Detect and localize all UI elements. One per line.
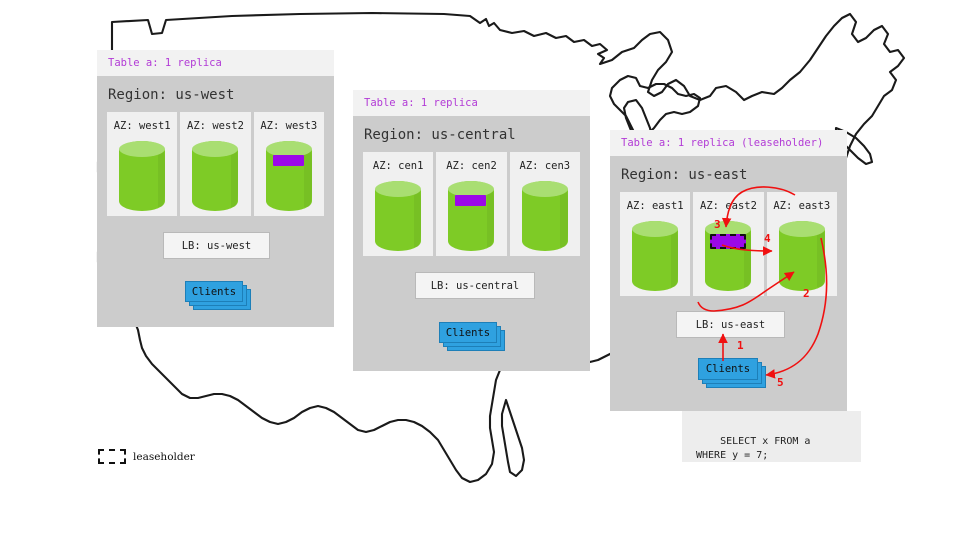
- load-balancer-us-east[interactable]: LB: us-east: [676, 311, 785, 338]
- cylinder-top: [119, 141, 165, 157]
- az-box-west2[interactable]: AZ: west2: [180, 112, 250, 216]
- leaseholder-dashed-icon: [98, 449, 126, 464]
- clients-us-central[interactable]: Clients: [439, 322, 505, 350]
- database-cylinder[interactable]: [266, 141, 312, 211]
- lb-label: LB: us-east: [696, 319, 766, 331]
- load-balancer-us-central[interactable]: LB: us-central: [415, 272, 535, 299]
- cylinder-top: [632, 221, 678, 237]
- flow-number-1: 1: [737, 339, 744, 352]
- az-label: AZ: east1: [627, 200, 684, 212]
- diagram-canvas: Table a: 1 replica Region: us-west AZ: w…: [0, 0, 960, 540]
- database-cylinder[interactable]: [448, 181, 494, 251]
- az-label: AZ: east2: [700, 200, 757, 212]
- clients-us-west[interactable]: Clients: [185, 281, 251, 309]
- region-panel-us-central: Table a: 1 replica Region: us-central AZ…: [353, 90, 590, 371]
- florida-path: [502, 400, 524, 476]
- database-cylinder[interactable]: [779, 221, 825, 291]
- cylinder-top: [522, 181, 568, 197]
- database-cylinder[interactable]: [375, 181, 421, 251]
- az-label: AZ: west1: [114, 120, 171, 132]
- az-box-east3[interactable]: AZ: east3: [767, 192, 837, 296]
- az-row-us-central: AZ: cen1 AZ: cen2 AZ: cen3: [353, 152, 590, 256]
- az-label: AZ: cen1: [373, 160, 424, 172]
- legend: leaseholder: [98, 449, 195, 464]
- az-row-us-west: AZ: west1 AZ: west2 AZ: west3: [97, 112, 334, 216]
- az-box-west3[interactable]: AZ: west3: [254, 112, 324, 216]
- clients-label: Clients: [446, 327, 490, 339]
- cylinder-shading: [231, 145, 238, 207]
- clients-us-east[interactable]: Clients: [698, 358, 764, 386]
- cylinder-top: [375, 181, 421, 197]
- panel-header-us-east: Table a: 1 replica (leaseholder): [610, 130, 847, 156]
- range-replica[interactable]: [455, 195, 486, 206]
- database-cylinder[interactable]: [192, 141, 238, 211]
- load-balancer-us-west[interactable]: LB: us-west: [163, 232, 270, 259]
- legend-label: leaseholder: [133, 451, 195, 463]
- region-panel-us-east: Table a: 1 replica (leaseholder) Region:…: [610, 130, 847, 411]
- database-cylinder[interactable]: [705, 221, 751, 291]
- lb-label: LB: us-central: [431, 280, 520, 292]
- az-label: AZ: west3: [260, 120, 317, 132]
- az-label: AZ: cen3: [520, 160, 571, 172]
- cylinder-top: [779, 221, 825, 237]
- az-label: AZ: west2: [187, 120, 244, 132]
- az-row-us-east: AZ: east1 AZ: east2 AZ: east3: [610, 192, 847, 296]
- region-title-us-west: Region: us-west: [97, 76, 334, 112]
- great-lakes-path: [610, 76, 700, 136]
- az-box-east2[interactable]: AZ: east2: [693, 192, 763, 296]
- database-cylinder[interactable]: [522, 181, 568, 251]
- az-box-cen3[interactable]: AZ: cen3: [510, 152, 580, 256]
- clients-label: Clients: [192, 286, 236, 298]
- panel-header-us-west: Table a: 1 replica: [97, 50, 334, 76]
- flow-number-3: 3: [714, 218, 721, 231]
- database-cylinder[interactable]: [632, 221, 678, 291]
- az-box-west1[interactable]: AZ: west1: [107, 112, 177, 216]
- sql-query-box: SELECT x FROM a WHERE y = 7;: [682, 411, 861, 462]
- az-box-east1[interactable]: AZ: east1: [620, 192, 690, 296]
- panel-header-us-central: Table a: 1 replica: [353, 90, 590, 116]
- region-panel-us-west: Table a: 1 replica Region: us-west AZ: w…: [97, 50, 334, 327]
- range-leaseholder[interactable]: [710, 234, 746, 249]
- flow-number-5: 5: [777, 376, 784, 389]
- database-cylinder[interactable]: [119, 141, 165, 211]
- range-replica[interactable]: [273, 155, 304, 166]
- clients-card-front[interactable]: Clients: [185, 281, 243, 302]
- flow-number-4: 4: [764, 232, 771, 245]
- az-label: AZ: east3: [773, 200, 830, 212]
- clients-label: Clients: [706, 363, 750, 375]
- clients-card-front[interactable]: Clients: [698, 358, 758, 380]
- cylinder-shading: [487, 185, 494, 247]
- sql-query-text: SELECT x FROM a WHERE y = 7;: [696, 436, 810, 462]
- az-box-cen1[interactable]: AZ: cen1: [363, 152, 433, 256]
- clients-card-front[interactable]: Clients: [439, 322, 497, 343]
- region-title-us-central: Region: us-central: [353, 116, 590, 152]
- az-label: AZ: cen2: [446, 160, 497, 172]
- az-box-cen2[interactable]: AZ: cen2: [436, 152, 506, 256]
- flow-number-2: 2: [803, 287, 810, 300]
- region-title-us-east: Region: us-east: [610, 156, 847, 192]
- lb-label: LB: us-west: [182, 240, 252, 252]
